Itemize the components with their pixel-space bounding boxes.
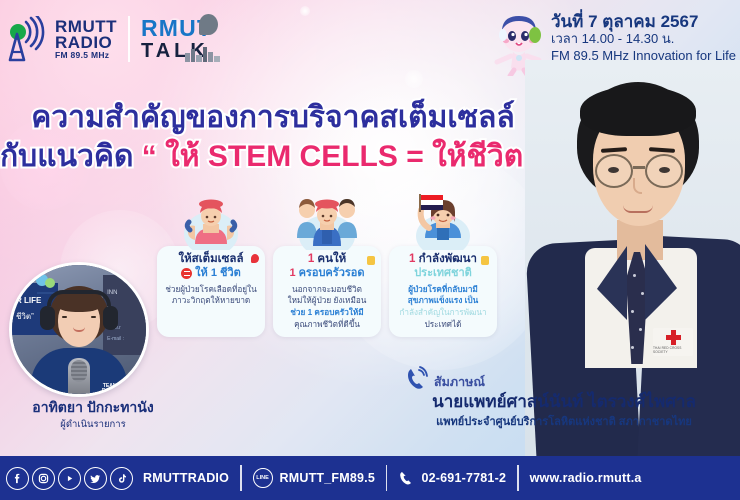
footer-divider xyxy=(517,465,519,491)
website-url[interactable]: www.radio.rmutt.a xyxy=(530,471,642,485)
twitter-icon[interactable] xyxy=(84,467,107,490)
logo-divider xyxy=(128,16,130,62)
facebook-icon[interactable] xyxy=(6,467,29,490)
jacket-badge-line2: RADIO xyxy=(102,389,118,395)
host-figure: TEAM RADIO xyxy=(35,286,123,397)
city-skyline-icon xyxy=(184,45,222,62)
microphone-grill xyxy=(71,360,87,382)
card-body: ช่วยผู้ป่วยโรคเลือดที่อยู่ใน ภาวะวิกฤตให… xyxy=(162,284,260,307)
tiktok-icon[interactable] xyxy=(110,467,133,490)
benefit-card[interactable]: 1 กำลังพัฒนา ประเทศชาติ ผู้ป่วยโรคที่กลั… xyxy=(389,246,497,337)
bokeh-sparkle xyxy=(300,6,310,16)
social-handle[interactable]: RMUTTRADIO xyxy=(143,471,229,485)
line-handle[interactable]: RMUTT_FM89.5 xyxy=(280,471,375,485)
radio-logo-line2: RADIO xyxy=(55,34,117,51)
broadcast-promo-poster: RMUTT RADIO FM 89.5 MHz RMUT TALK xyxy=(0,0,740,500)
card-body-line: ผู้ป่วยโรคที่กลับมามี xyxy=(408,285,478,294)
card-heading: 1 กำลังพัฒนา xyxy=(394,252,492,266)
card-subheading: ให้ 1 ชีวิต xyxy=(195,266,241,280)
host-eye-right xyxy=(91,316,96,319)
microphone-icon xyxy=(68,358,90,397)
broadcast-date: วันที่ 7 ตุลาคม 2567 xyxy=(551,12,736,31)
title-line-2: กับแนวคิด “ ให้ STEM CELLS = ให้ชีวิต ” xyxy=(0,139,540,174)
eyeglasses-bridge xyxy=(633,166,645,169)
card-subheading: ครอบครัวรอด xyxy=(299,266,365,280)
red-cross-icon xyxy=(666,330,681,345)
speech-bubble-icon xyxy=(199,14,218,35)
phone-number[interactable]: 02-691-7781-2 xyxy=(421,471,506,485)
header-logos: RMUTT RADIO FM 89.5 MHz RMUT TALK xyxy=(0,8,216,70)
benefit-card[interactable]: 1 คนให้ 1 ครอบครัวรอด นอกจากจะมอบชีวิต ใ… xyxy=(273,246,381,337)
blood-drop-icon xyxy=(251,254,259,263)
footer-bar: RMUTTRADIO LINE RMUTT_FM89.5 02-691-7781… xyxy=(0,456,740,500)
card-subheading-row: ประเทศชาติ xyxy=(394,266,492,280)
equals-badge-icon xyxy=(181,268,192,279)
sparkle-icon xyxy=(481,256,489,265)
footer-divider xyxy=(386,465,388,491)
title-line-2-prefix: กับแนวคิด xyxy=(0,140,142,173)
card-subheading-row: ให้ 1 ชีวิต xyxy=(162,266,260,280)
title-line-1: ความสำคัญของการบริจาคสเต็มเซลล์ xyxy=(0,100,540,135)
eyeglasses-icon xyxy=(595,154,633,188)
host-name: อาทิตยา ปักกะทานัง xyxy=(0,397,186,419)
jacket-badge: TEAM RADIO xyxy=(102,384,118,395)
necktie-dot xyxy=(633,274,636,277)
youtube-icon[interactable] xyxy=(58,467,81,490)
benefit-card[interactable]: ให้สเต็มเซลล์ ให้ 1 ชีวิต ช่วยผู้ป่วยโรค… xyxy=(157,246,265,337)
guest-mouth xyxy=(623,205,653,213)
guest-nose xyxy=(633,178,642,194)
card-subheading-number: 1 xyxy=(289,266,295,280)
footer-divider xyxy=(240,465,242,491)
person-with-flag-icon xyxy=(389,194,497,250)
red-cross-badge-text: THAI RED CROSS SOCIETY xyxy=(653,346,693,354)
guest-fringe xyxy=(580,86,696,136)
card-body-line: ช่วย 1 ครอบครัวให้มี xyxy=(290,308,363,317)
card-subheading: ประเทศชาติ xyxy=(414,266,472,280)
card-heading: 1 คนให้ xyxy=(278,252,376,266)
line-icon[interactable]: LINE xyxy=(253,468,273,488)
sparkle-icon xyxy=(367,256,375,265)
card-heading: ให้สเต็มเซลล์ xyxy=(162,252,260,266)
broadcast-time: เวลา 14.00 - 14.30 น. xyxy=(551,32,736,47)
card-body: ผู้ป่วยโรคที่กลับมามี สุขภาพแข็งแรง เป็น… xyxy=(394,284,492,331)
card-body: นอกจากจะมอบชีวิต ใหม่ให้ผู้ป่วย ยังเหมือ… xyxy=(278,284,376,331)
rmut-talk-logo[interactable]: RMUT TALK xyxy=(141,17,216,61)
guest-role: แพทย์ประจำศูนย์บริการโลหิตแห่งชาติ สภากา… xyxy=(388,412,740,430)
host-eye-left xyxy=(62,316,67,319)
studio-banner-line2: ชีวิต” xyxy=(16,310,34,323)
card-body-line: กำลังสำคัญในการพัฒนา xyxy=(394,307,492,319)
card-body-line: สุขภาพแข็งแรง เป็น xyxy=(408,296,478,305)
card-body-line: นอกจากจะมอบชีวิต xyxy=(278,284,376,296)
necktie-dot xyxy=(639,328,642,331)
strong-person-icon xyxy=(157,194,265,250)
eyeglasses-icon xyxy=(645,154,683,188)
necktie-dot xyxy=(641,292,644,295)
card-body-line: ช่วยผู้ป่วยโรคเลือดที่อยู่ใน xyxy=(162,284,260,296)
page-title: ความสำคัญของการบริจาคสเต็มเซลล์ กับแนวคิ… xyxy=(0,100,540,175)
line-icon-label: LINE xyxy=(256,475,269,481)
social-icons xyxy=(6,467,133,490)
title-line-2-quote: “ ให้ STEM CELLS = ให้ชีวิต ” xyxy=(142,140,547,173)
headphone-cup-left xyxy=(40,306,55,330)
card-heading-text: กำลังพัฒนา xyxy=(415,253,477,265)
host-role: ผู้ดำเนินรายการ xyxy=(0,417,186,432)
necktie-dot xyxy=(631,310,634,313)
card-body-line: ใหม่ให้ผู้ป่วย ยังเหมือน xyxy=(278,295,376,307)
phone-icon xyxy=(398,470,414,486)
radio-tower-icon xyxy=(4,16,50,62)
card-heading-text: คนให้ xyxy=(314,253,346,265)
instagram-icon[interactable] xyxy=(32,467,55,490)
benefit-cards: ให้สเต็มเซลล์ ให้ 1 ชีวิต ช่วยผู้ป่วยโรค… xyxy=(157,246,497,337)
host-studio-photo: R LIFE ชีวิต” INN L www.r E-mail : xyxy=(9,262,149,397)
card-body-line: คุณภาพชีวิตที่ดีขึ้น xyxy=(278,319,376,331)
necktie-dot xyxy=(631,346,634,349)
headphone-cup-right xyxy=(103,306,118,330)
radio-logo-frequency: FM 89.5 MHz xyxy=(55,51,117,60)
family-group-icon xyxy=(273,194,381,250)
card-body-line: ประเทศได้ xyxy=(394,319,492,331)
guest-name: นายแพทย์ศาสน์นันท์ ไตรวงศ์ไพศาล xyxy=(388,388,740,415)
headphone-band-icon xyxy=(47,290,111,306)
card-body-line: ภาวะวิกฤตให้หายขาด xyxy=(162,295,260,307)
bokeh-sparkle xyxy=(405,70,423,88)
rmutt-radio-logo[interactable]: RMUTT RADIO FM 89.5 MHz xyxy=(0,16,117,62)
red-cross-badge: THAI RED CROSS SOCIETY xyxy=(653,328,693,356)
card-subheading-row: 1 ครอบครัวรอด xyxy=(278,266,376,280)
